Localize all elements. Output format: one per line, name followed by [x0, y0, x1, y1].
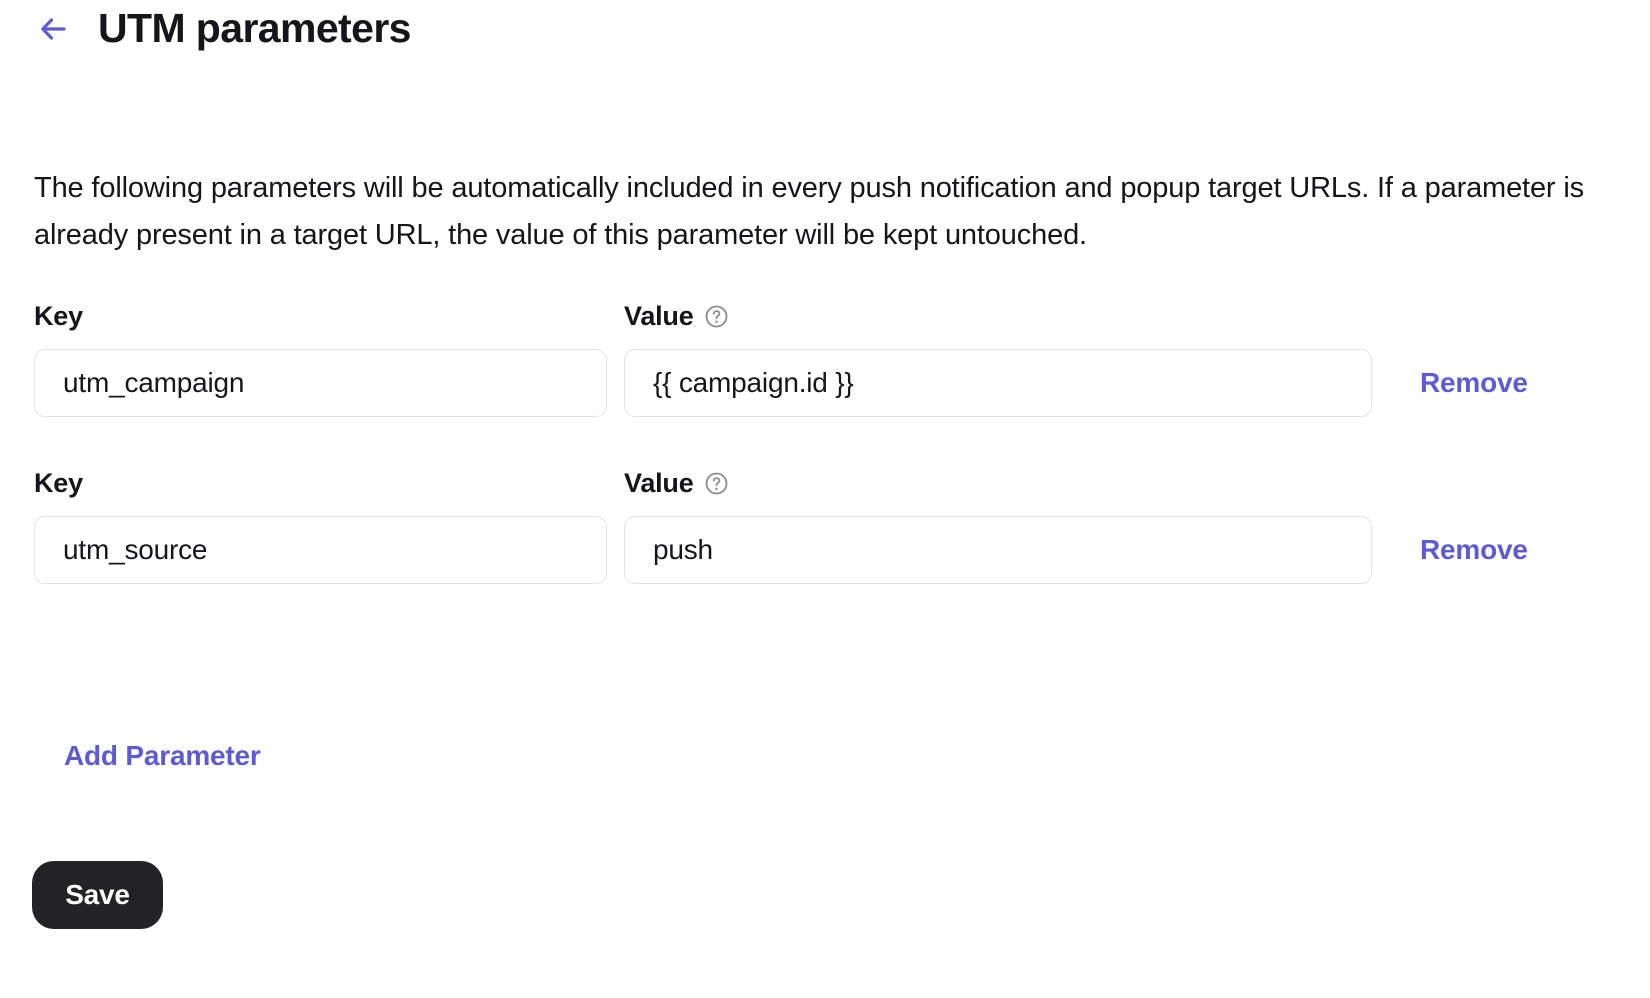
help-circle-icon[interactable] [704, 304, 729, 329]
parameter-row-fields: Remove [34, 349, 1624, 417]
remove-parameter-button[interactable]: Remove [1420, 367, 1528, 399]
remove-parameter-button[interactable]: Remove [1420, 534, 1528, 566]
back-button[interactable] [34, 9, 74, 49]
parameter-row-labels: Key Value [34, 463, 1624, 503]
value-label: Value [624, 301, 694, 332]
add-parameter-button[interactable]: Add Parameter [64, 740, 261, 772]
key-label-wrapper: Key [34, 468, 624, 499]
page-header: UTM parameters [34, 8, 411, 49]
key-label: Key [34, 468, 83, 499]
key-input[interactable] [34, 516, 607, 584]
page-description: The following parameters will be automat… [34, 165, 1624, 259]
key-label: Key [34, 301, 83, 332]
arrow-left-icon [39, 16, 69, 42]
key-label-wrapper: Key [34, 301, 624, 332]
page-title: UTM parameters [98, 8, 411, 49]
key-input[interactable] [34, 349, 607, 417]
utm-parameters-page: UTM parameters The following parameters … [0, 0, 1650, 998]
help-circle-icon[interactable] [704, 471, 729, 496]
value-label-wrapper: Value [624, 468, 1384, 499]
save-button[interactable]: Save [32, 861, 163, 929]
parameter-row-labels: Key Value [34, 296, 1624, 336]
value-input[interactable] [624, 349, 1372, 417]
parameter-row: Key Value Remove [34, 296, 1624, 417]
value-input[interactable] [624, 516, 1372, 584]
value-label: Value [624, 468, 694, 499]
value-label-wrapper: Value [624, 301, 1384, 332]
parameter-row-fields: Remove [34, 516, 1624, 584]
parameter-row: Key Value Remove [34, 463, 1624, 584]
parameters-list: Key Value Remove [34, 296, 1624, 630]
